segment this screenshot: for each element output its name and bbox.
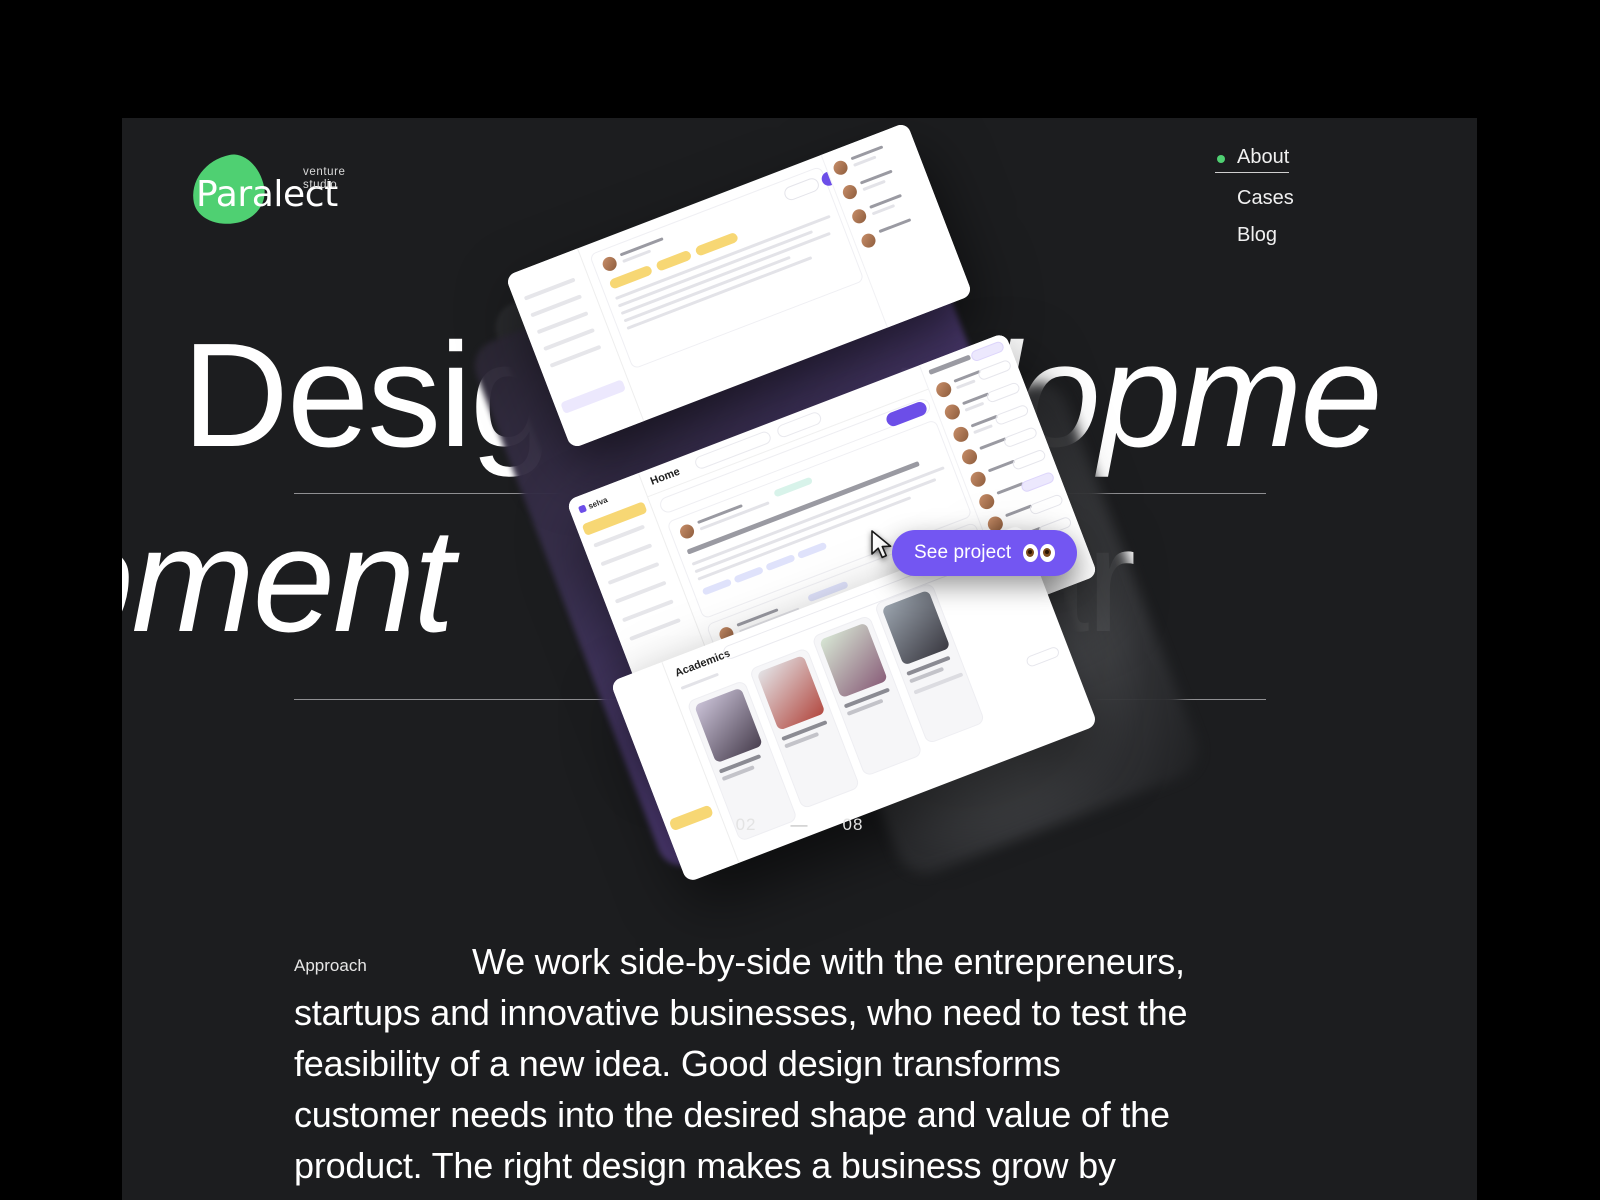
approach-label: Approach: [294, 956, 367, 976]
counter-separator: —: [791, 815, 809, 835]
see-project-button[interactable]: See project: [892, 530, 1077, 576]
slide-counter: 02 — 08: [122, 815, 1477, 835]
page-panel: Paralect venture studio About Cases Blog: [122, 118, 1477, 1200]
mockup-app-logo: selva: [578, 495, 609, 514]
who-to-follow-title: [928, 355, 971, 375]
app-logo-icon: [578, 504, 587, 513]
counter-current: 02: [736, 815, 757, 835]
counter-total: 08: [843, 815, 864, 835]
mockup-home-title: Home: [649, 466, 682, 488]
approach-body: We work side-by-side with the entreprene…: [294, 936, 1212, 1191]
mockup-filter-dropdown[interactable]: [775, 410, 823, 439]
screenshot-stage: Paralect venture studio About Cases Blog: [0, 0, 1600, 1200]
mouse-cursor-icon: [870, 530, 894, 560]
eyes-emoji-icon: [1023, 544, 1055, 562]
see-project-label: See project: [914, 542, 1011, 564]
